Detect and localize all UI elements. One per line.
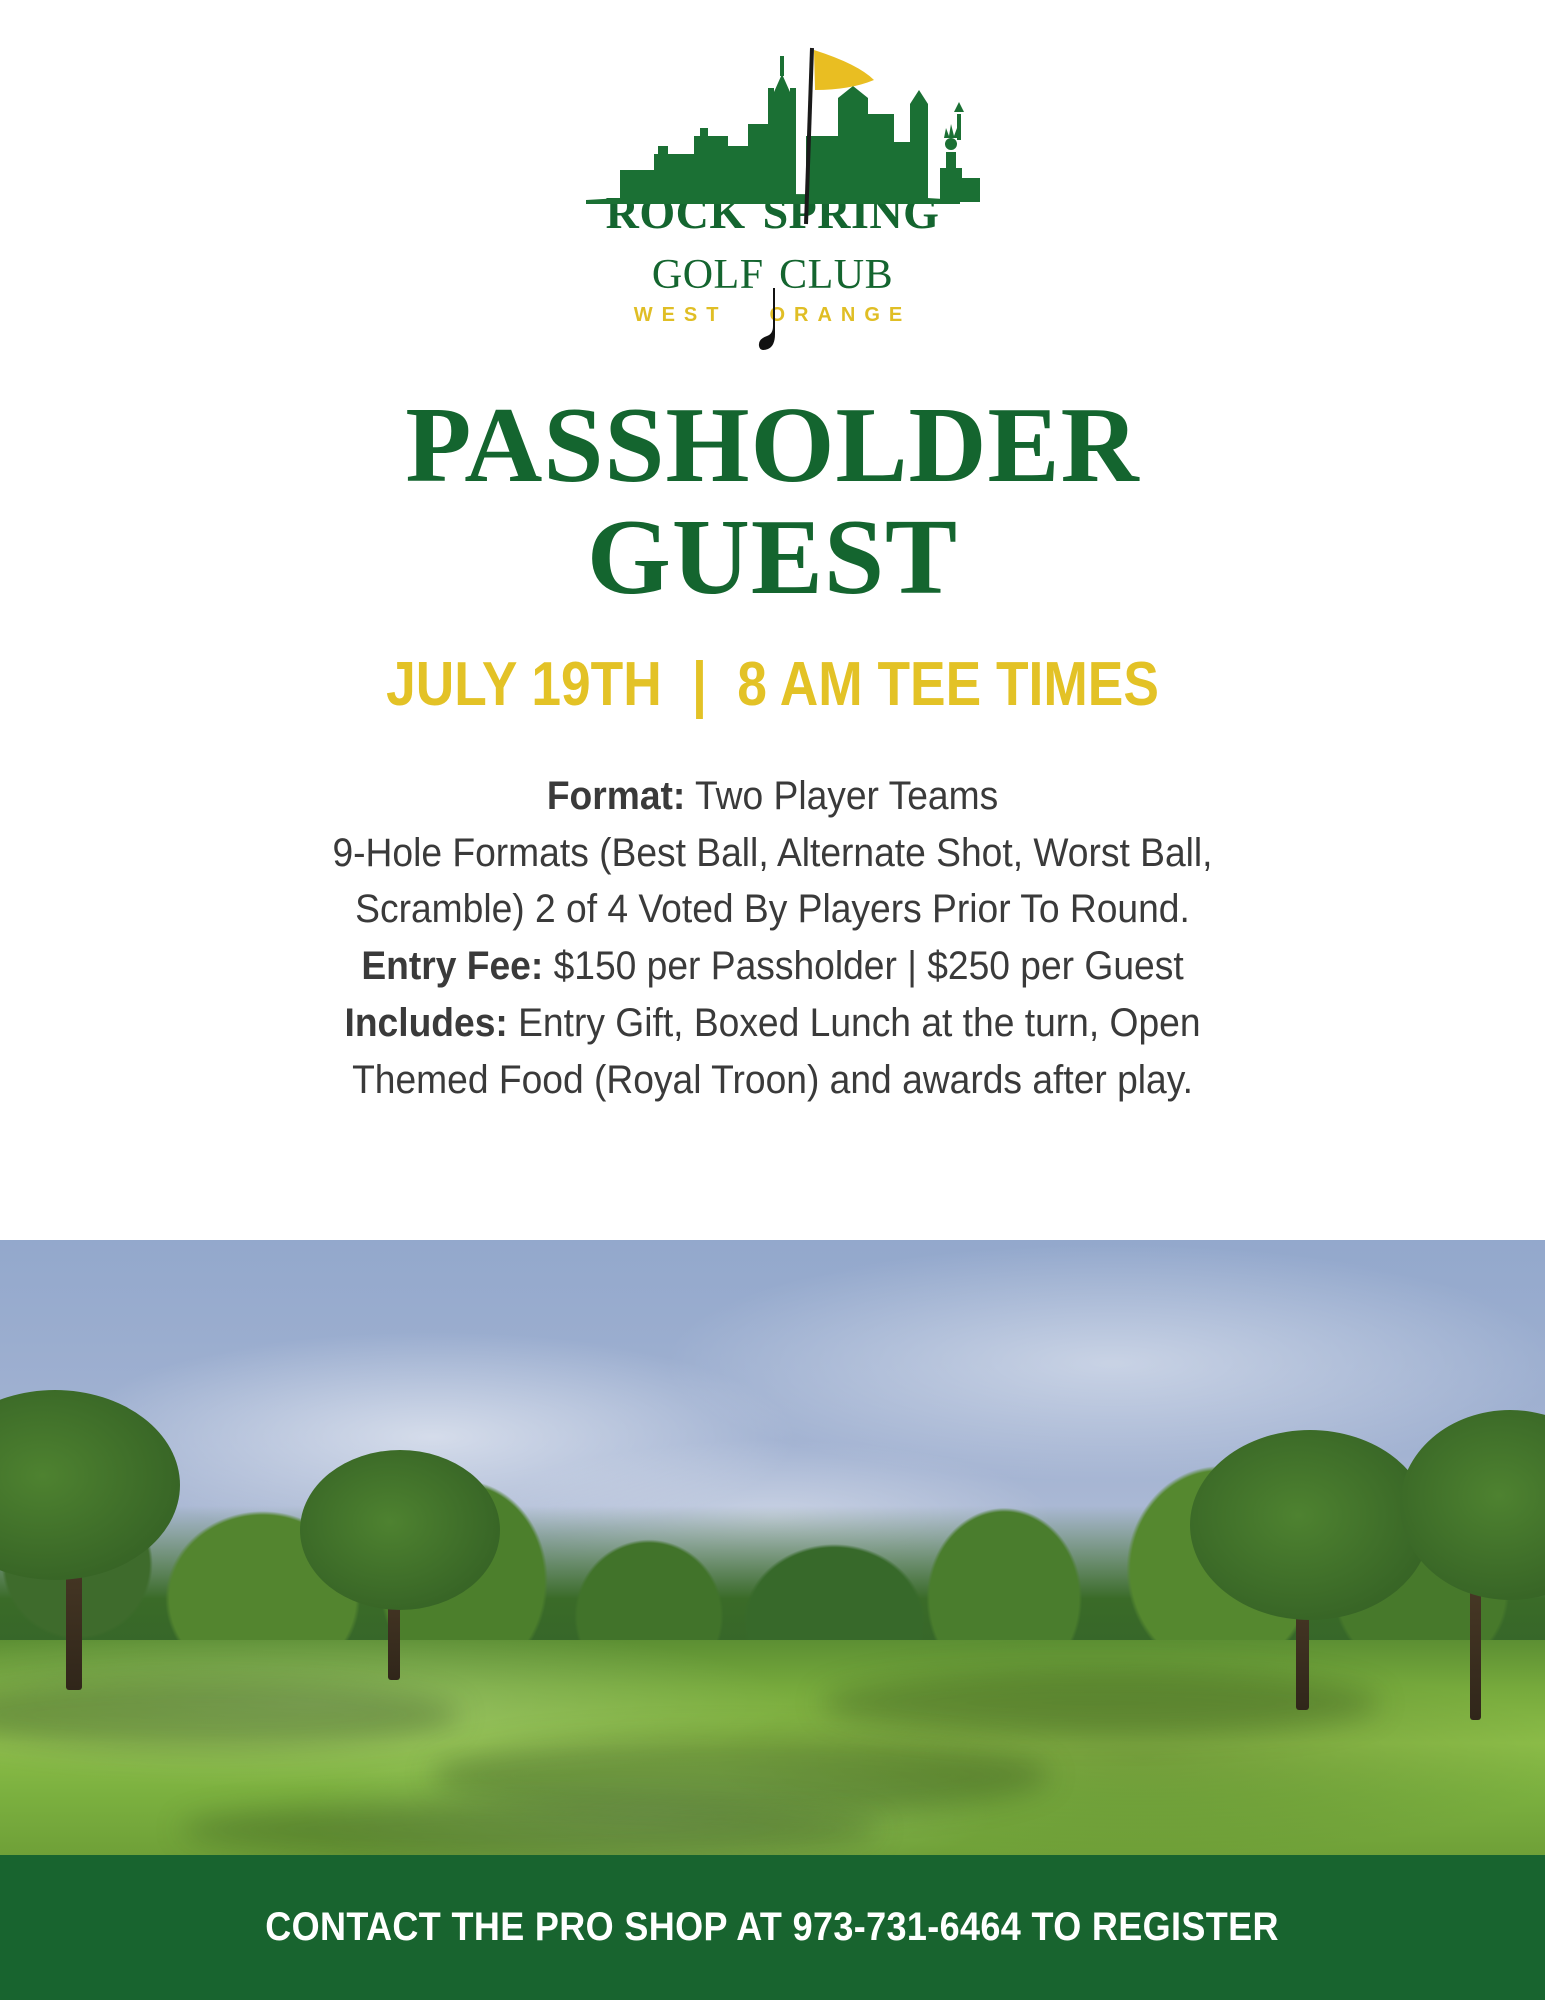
detail-text: Themed Food (Royal Troon) and awards aft… — [352, 1058, 1193, 1102]
detail-line: Includes: Entry Gift, Boxed Lunch at the… — [194, 995, 1352, 1052]
event-date: JULY 19TH — [386, 650, 662, 719]
golf-course-photo — [0, 1240, 1545, 1855]
club-logo: Rock Spring Golf Club WEST ORANGE — [0, 0, 1545, 364]
tree-canopy — [1190, 1430, 1430, 1620]
detail-text: $150 per Passholder | $250 per Guest — [543, 944, 1183, 988]
golf-club-icon — [756, 286, 790, 365]
detail-line: Format: Two Player Teams — [194, 768, 1352, 825]
event-title-line-2: GUEST — [0, 502, 1545, 613]
logo-location-line: WEST ORANGE — [623, 304, 923, 364]
contact-footer-bar: CONTACT THE PRO SHOP AT 973-731-6464 TO … — [0, 1855, 1545, 2000]
detail-text: Entry Gift, Boxed Lunch at the turn, Ope… — [508, 1001, 1201, 1045]
event-title-line-1: PASSHOLDER — [0, 390, 1545, 501]
event-date-bar: JULY 19TH | 8 AM TEE TIMES — [108, 649, 1437, 720]
detail-line: Themed Food (Royal Troon) and awards aft… — [194, 1052, 1352, 1109]
photo-fairway — [0, 1640, 1545, 1855]
detail-text: Scramble) 2 of 4 Voted By Players Prior … — [355, 887, 1190, 931]
detail-line: 9-Hole Formats (Best Ball, Alternate Sho… — [194, 825, 1352, 882]
detail-label: Format: — [547, 774, 685, 818]
date-separator: | — [677, 649, 723, 720]
flyer-page: Rock Spring Golf Club WEST ORANGE PASSHO… — [0, 0, 1545, 2000]
skyline-golf-flag-icon — [558, 28, 988, 228]
detail-line: Entry Fee: $150 per Passholder | $250 pe… — [194, 938, 1352, 995]
detail-label: Entry Fee: — [361, 944, 543, 988]
detail-line: Scramble) 2 of 4 Voted By Players Prior … — [194, 881, 1352, 938]
logo-location-west: WEST — [634, 304, 728, 327]
event-details: Format: Two Player Teams 9-Hole Formats … — [0, 768, 1545, 1109]
tree-canopy — [300, 1450, 500, 1610]
logo-location-orange: ORANGE — [769, 304, 911, 327]
contact-footer-text: CONTACT THE PRO SHOP AT 973-731-6464 TO … — [266, 1905, 1280, 1950]
event-tee-times: 8 AM TEE TIMES — [737, 650, 1159, 719]
detail-text: Two Player Teams — [685, 774, 998, 818]
fairway-shadow — [180, 1800, 880, 1855]
detail-label: Includes: — [344, 1001, 507, 1045]
detail-text: 9-Hole Formats (Best Ball, Alternate Sho… — [332, 831, 1212, 875]
fairway-shadow — [0, 1680, 460, 1750]
event-title: PASSHOLDER GUEST — [0, 390, 1545, 612]
